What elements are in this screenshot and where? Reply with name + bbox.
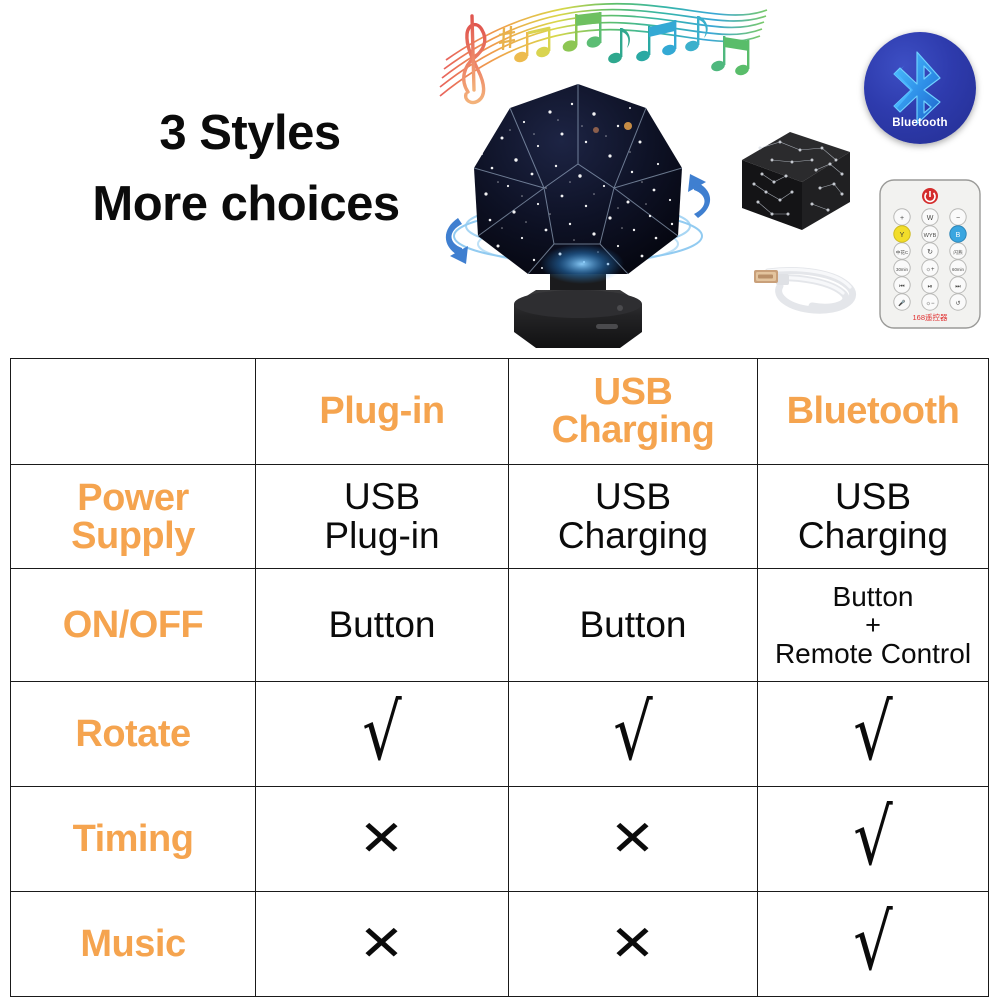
table-header-usb-charging-line-2: Charging	[513, 412, 753, 449]
svg-text:60min: 60min	[952, 267, 965, 272]
svg-text:⏮: ⏮	[899, 284, 905, 290]
check-icon: √	[613, 701, 653, 763]
cell-on-off-plug-in: Button	[256, 569, 509, 682]
cell-music-plug-in: ✕	[256, 892, 509, 997]
cross-icon: ✕	[359, 923, 405, 965]
comparison-table: Plug-in USB Charging Bluetooth Power Sup…	[10, 358, 989, 997]
row-label-rotate-text: Rotate	[75, 713, 190, 755]
row-label-music: Music	[11, 892, 256, 997]
row-label-music-text: Music	[80, 923, 185, 965]
cell-rotate-usb-charging: √	[509, 682, 758, 787]
row-label-power-supply-line-1: Power	[15, 479, 251, 517]
svg-text:↻: ↻	[927, 249, 933, 256]
cell-text-line: Button	[762, 582, 984, 611]
row-label-timing-text: Timing	[73, 818, 194, 860]
cell-text-line: Charging	[513, 517, 753, 555]
page-title: 3 Styles More choices	[46, 98, 446, 240]
svg-text:中花C: 中花C	[896, 249, 909, 256]
svg-text:☼−: ☼−	[925, 301, 934, 307]
remote-model-label: 168遥控器	[912, 312, 948, 322]
table-header-usb-charging: USB Charging	[509, 359, 758, 465]
usb-cable	[740, 248, 864, 320]
table-header-bluetooth-label: Bluetooth	[787, 390, 960, 432]
cell-text-line: Remote Control	[762, 639, 984, 668]
svg-text:⏯: ⏯	[928, 284, 933, 290]
check-icon: √	[853, 806, 893, 868]
headline-line-1: 3 Styles	[46, 98, 446, 169]
cell-power-supply-bluetooth: USB Charging	[758, 465, 989, 569]
cell-text-line: USB	[513, 478, 753, 516]
row-label-rotate: Rotate	[11, 682, 256, 787]
svg-text:30min: 30min	[896, 267, 909, 272]
table-header-corner	[11, 359, 256, 465]
cell-text-line: Button	[580, 604, 687, 645]
row-label-timing: Timing	[11, 787, 256, 892]
svg-text:B: B	[956, 232, 961, 239]
row-label-on-off: ON/OFF	[11, 569, 256, 682]
bluetooth-badge-label: Bluetooth	[864, 117, 976, 129]
table-row-on-off: ON/OFF Button Button Button + Remote Con…	[11, 569, 989, 682]
cell-text-plus: +	[762, 612, 984, 639]
cell-music-usb-charging: ✕	[509, 892, 758, 997]
table-row-timing: Timing ✕ ✕ √	[11, 787, 989, 892]
check-icon: √	[853, 701, 893, 763]
svg-text:Y: Y	[900, 232, 905, 239]
row-label-power-supply-line-2: Supply	[15, 517, 251, 555]
svg-text:☼+: ☼+	[925, 267, 934, 273]
product-hero: 3 Styles More choices	[0, 0, 1000, 358]
svg-text:−: −	[956, 215, 960, 222]
cell-power-supply-plug-in: USB Plug-in	[256, 465, 509, 569]
svg-text:⏭: ⏭	[955, 284, 961, 290]
svg-text:闪燕: 闪燕	[953, 249, 963, 256]
check-icon: √	[853, 911, 893, 973]
svg-text:WYB: WYB	[924, 233, 937, 239]
cell-text-line: Plug-in	[260, 517, 504, 555]
cross-icon: ✕	[359, 818, 405, 860]
svg-text:W: W	[927, 215, 934, 222]
check-icon: √	[362, 701, 402, 763]
row-label-power-supply: Power Supply	[11, 465, 256, 569]
svg-text:+: +	[900, 215, 904, 222]
svg-text:↺: ↺	[955, 300, 960, 307]
remote-control: + W − Y WYB B 中花C ↻ 闪燕 30min ☼+ 60min ⏮ …	[878, 178, 982, 330]
cross-icon: ✕	[610, 818, 656, 860]
cell-timing-plug-in: ✕	[256, 787, 509, 892]
cell-text-line: USB	[762, 478, 984, 516]
constellation-gift-box	[736, 126, 856, 236]
cell-text-line: USB	[260, 478, 504, 516]
cell-on-off-bluetooth: Button + Remote Control	[758, 569, 989, 682]
cell-timing-bluetooth: √	[758, 787, 989, 892]
bluetooth-badge: Bluetooth	[864, 32, 976, 144]
table-header-plug-in-label: Plug-in	[319, 390, 444, 432]
table-header-plug-in: Plug-in	[256, 359, 509, 465]
cell-power-supply-usb-charging: USB Charging	[509, 465, 758, 569]
table-row-power-supply: Power Supply USB Plug-in USB Charging US…	[11, 465, 989, 569]
cell-text-line: Charging	[762, 517, 984, 555]
cell-rotate-plug-in: √	[256, 682, 509, 787]
cell-rotate-bluetooth: √	[758, 682, 989, 787]
table-header-row: Plug-in USB Charging Bluetooth	[11, 359, 989, 465]
row-label-on-off-text: ON/OFF	[63, 604, 204, 646]
table-row-music: Music ✕ ✕ √	[11, 892, 989, 997]
table-row-rotate: Rotate √ √ √	[11, 682, 989, 787]
cell-timing-usb-charging: ✕	[509, 787, 758, 892]
cross-icon: ✕	[610, 923, 656, 965]
table-header-usb-charging-line-1: USB	[513, 374, 753, 411]
cell-on-off-usb-charging: Button	[509, 569, 758, 682]
star-projector-lamp	[432, 68, 724, 360]
cell-text-line: Button	[329, 604, 436, 645]
headline-line-2: More choices	[46, 169, 446, 240]
cell-music-bluetooth: √	[758, 892, 989, 997]
table-header-bluetooth: Bluetooth	[758, 359, 989, 465]
svg-text:🎤: 🎤	[898, 299, 906, 307]
